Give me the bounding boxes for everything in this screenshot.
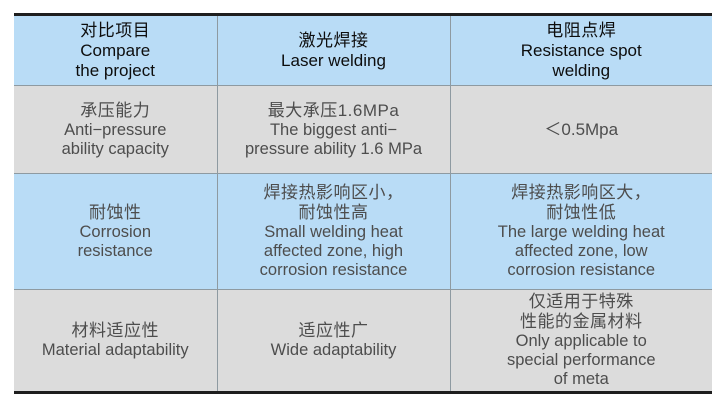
comparison-table: 对比项目 Compare the project 激光焊接 Laser weld… (14, 13, 712, 394)
header-cn-resistance-spot-welding: 电阻点焊 (455, 21, 709, 41)
cell-en-anti-pressure-laser: The biggest anti− pressure ability 1.6 M… (222, 121, 446, 159)
header-en-resistance-spot-welding: Resistance spot welding (455, 41, 709, 80)
header-cell-compare-the-project: 对比项目 Compare the project (14, 15, 217, 86)
table-row: 材料适应性 Material adaptability 适应性广 Wide ad… (14, 290, 712, 393)
cell-corrosion-resistance: 焊接热影响区大， 耐蚀性低 The large welding heat aff… (450, 174, 712, 290)
cell-cn-material-adaptability-laser: 适应性广 (222, 321, 446, 341)
cell-en-material-adaptability-resistance: Only applicable to special performance o… (455, 332, 709, 389)
cell-en-corrosion-resistance: The large welding heat affected zone, lo… (455, 223, 709, 280)
cell-material-adaptability-label: 材料适应性 Material adaptability (14, 290, 217, 393)
cell-cn-anti-pressure-laser: 最大承压1.6MPa (222, 101, 446, 121)
header-en-compare-the-project: Compare the project (18, 41, 213, 80)
cell-material-adaptability-resistance: 仅适用于特殊 性能的金属材料 Only applicable to specia… (450, 290, 712, 393)
cell-material-adaptability-laser: 适应性广 Wide adaptability (217, 290, 450, 393)
cell-en-corrosion-label: Corrosion resistance (18, 223, 213, 261)
table-row: 耐蚀性 Corrosion resistance 焊接热影响区小， 耐蚀性高 S… (14, 174, 712, 290)
cell-anti-pressure-label: 承压能力 Anti−pressure ability capacity (14, 86, 217, 174)
cell-en-corrosion-laser: Small welding heat affected zone, high c… (222, 223, 446, 280)
cell-en-material-adaptability-label: Material adaptability (18, 341, 213, 360)
header-cn-compare-the-project: 对比项目 (18, 21, 213, 41)
header-cell-laser-welding: 激光焊接 Laser welding (217, 15, 450, 86)
cell-cn-material-adaptability-resistance: 仅适用于特殊 性能的金属材料 (455, 292, 709, 332)
cell-en-material-adaptability-laser: Wide adaptability (222, 341, 446, 360)
cell-anti-pressure-resistance: ＜0.5Mpa (450, 86, 712, 174)
cell-cn-corrosion-laser: 焊接热影响区小， 耐蚀性高 (222, 183, 446, 223)
table-row: 承压能力 Anti−pressure ability capacity 最大承压… (14, 86, 712, 174)
table-header-row: 对比项目 Compare the project 激光焊接 Laser weld… (14, 15, 712, 86)
header-cn-laser-welding: 激光焊接 (222, 31, 446, 51)
cell-corrosion-label: 耐蚀性 Corrosion resistance (14, 174, 217, 290)
cell-en-anti-pressure-label: Anti−pressure ability capacity (18, 121, 213, 159)
cell-cn-material-adaptability-label: 材料适应性 (18, 321, 213, 341)
cell-cn-corrosion-resistance: 焊接热影响区大， 耐蚀性低 (455, 183, 709, 223)
header-en-laser-welding: Laser welding (222, 51, 446, 71)
header-cell-resistance-spot-welding: 电阻点焊 Resistance spot welding (450, 15, 712, 86)
cell-cn-anti-pressure-label: 承压能力 (18, 101, 213, 121)
cell-anti-pressure-laser: 最大承压1.6MPa The biggest anti− pressure ab… (217, 86, 450, 174)
cell-en-anti-pressure-resistance: ＜0.5Mpa (455, 120, 709, 140)
cell-corrosion-laser: 焊接热影响区小， 耐蚀性高 Small welding heat affecte… (217, 174, 450, 290)
cell-cn-corrosion-label: 耐蚀性 (18, 203, 213, 223)
